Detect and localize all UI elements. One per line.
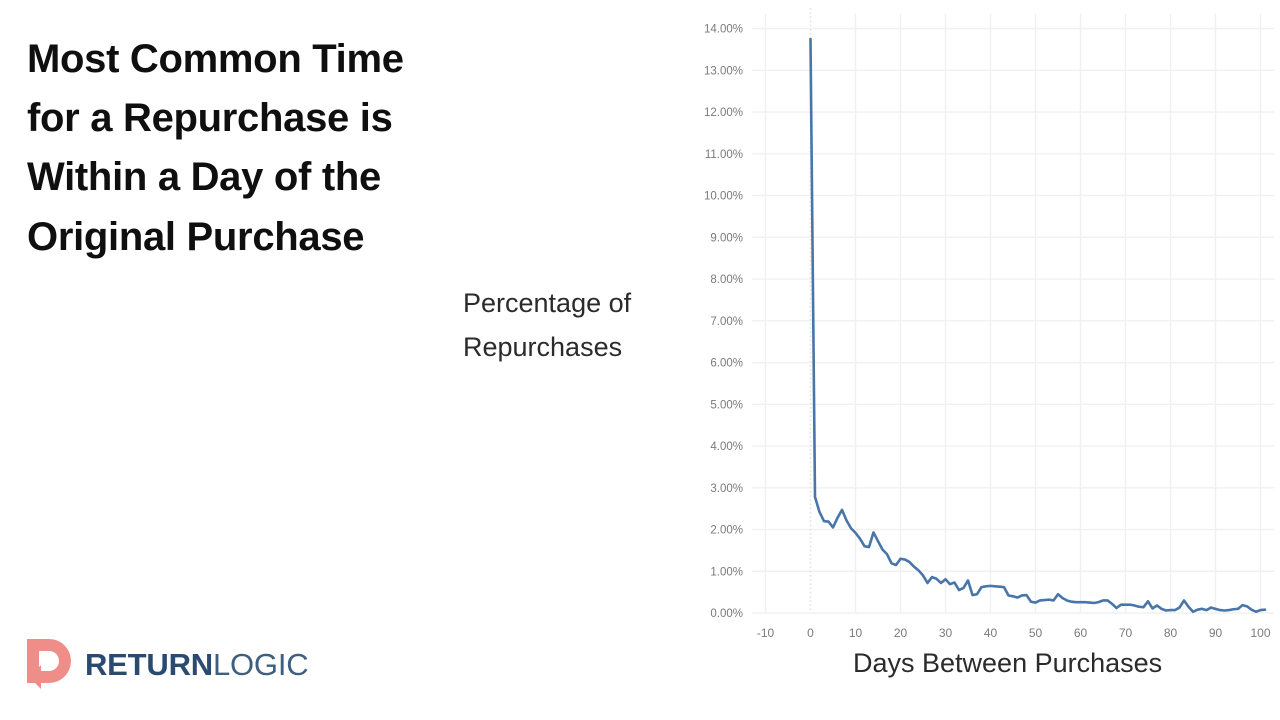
logo-word-logic: LOGIC — [213, 647, 308, 682]
y-tick-label: 5.00% — [710, 399, 743, 411]
x-tick-label: -10 — [757, 626, 775, 640]
y-tick-label: 13.00% — [704, 65, 743, 77]
y-tick-label: 10.00% — [704, 191, 743, 203]
logo-wordmark: RETURNLOGIC — [85, 649, 308, 680]
chart-y-axis-label: Percentage of Repurchases — [463, 282, 673, 369]
x-tick-label: 60 — [1074, 626, 1088, 640]
x-tick-label: 10 — [849, 626, 863, 640]
y-tick-label: 6.00% — [710, 358, 743, 370]
y-tick-label: 0.00% — [710, 608, 743, 620]
x-tick-label: 70 — [1119, 626, 1133, 640]
x-tick-label: 80 — [1164, 626, 1178, 640]
x-tick-label: 0 — [807, 626, 814, 640]
y-tick-label: 7.00% — [710, 316, 743, 328]
logo-mark-svg — [27, 639, 73, 689]
y-tick-label: 2.00% — [710, 525, 743, 537]
page-title: Most Common Time for a Repurchase is Wit… — [27, 30, 447, 267]
y-tick-label: 4.00% — [710, 441, 743, 453]
x-tick-label: 90 — [1209, 626, 1223, 640]
y-tick-label: 11.00% — [705, 149, 743, 161]
logo-word-return: RETURN — [85, 647, 213, 682]
brand-logo: RETURNLOGIC — [27, 638, 308, 690]
x-tick-label: 100 — [1250, 626, 1270, 640]
y-tick-label: 3.00% — [710, 483, 743, 495]
slide-root: Most Common Time for a Repurchase is Wit… — [0, 0, 1280, 720]
y-tick-label: 14.00% — [704, 24, 743, 36]
y-tick-label: 12.00% — [704, 107, 743, 119]
x-tick-label: 20 — [894, 626, 908, 640]
line-chart: 0.00%1.00%2.00%3.00%4.00%5.00%6.00%7.00%… — [690, 8, 1280, 698]
x-tick-label: 50 — [1029, 626, 1043, 640]
chart-canvas: 0.00%1.00%2.00%3.00%4.00%5.00%6.00%7.00%… — [690, 8, 1280, 698]
y-tick-label: 8.00% — [710, 274, 743, 286]
returnlogic-r-arrow-mark — [27, 639, 73, 689]
y-tick-label: 9.00% — [710, 232, 743, 244]
series-line — [811, 39, 1266, 612]
y-tick-label: 1.00% — [710, 566, 743, 578]
x-tick-label: 40 — [984, 626, 998, 640]
x-tick-label: 30 — [939, 626, 953, 640]
